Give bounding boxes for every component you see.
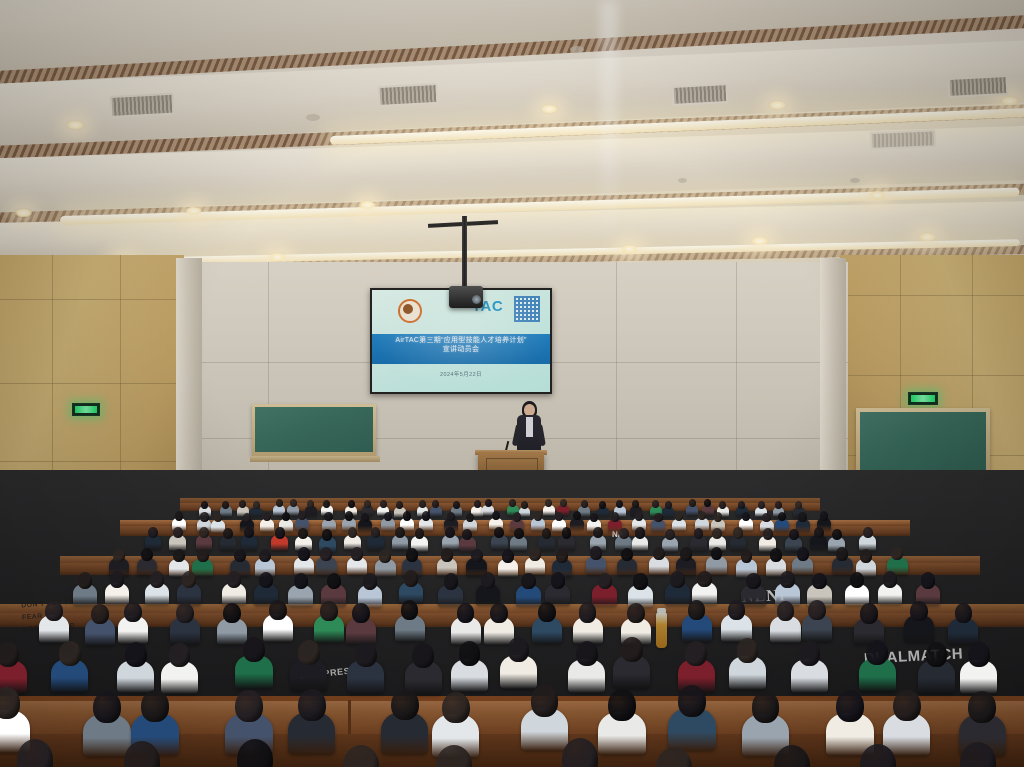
audience-member-head [635, 527, 645, 538]
audience-member-head [275, 527, 285, 538]
audience-member-head [529, 547, 541, 561]
smoke-detector [850, 178, 860, 183]
audience-member-head [379, 549, 391, 563]
audience-member-head [653, 547, 665, 561]
audience-member-head [508, 637, 530, 662]
airtac-logo-center [403, 304, 413, 314]
audience-member-head [351, 547, 363, 561]
audience-member-head [259, 549, 271, 563]
recessed-downlight [268, 252, 287, 262]
audience-member-head [474, 500, 481, 508]
recessed-downlight [918, 232, 937, 242]
air-conditioning-vent [870, 129, 937, 150]
audience-member-head [797, 547, 809, 561]
audience-member-head [223, 603, 241, 623]
audience-member-head [513, 512, 521, 521]
audience-member-head [780, 571, 794, 587]
audience-member-head [635, 511, 643, 520]
audience-member-head [199, 527, 209, 538]
audience-member-head [685, 641, 707, 666]
audience-member-head [777, 601, 795, 621]
audience-member-head [294, 573, 308, 589]
audience-member-head [471, 549, 483, 563]
audience-member-head [253, 501, 260, 509]
wall-panel-seam [840, 295, 1024, 296]
audience-member-head [445, 527, 455, 538]
audience-member-head [243, 637, 265, 662]
recessed-downlight [620, 244, 639, 254]
audience-member-head [812, 573, 826, 589]
foreground-desk-seam [348, 700, 351, 734]
audience-member-head [462, 529, 472, 540]
slide-date: 2024年5月22日 [372, 370, 550, 378]
recessed-downlight [66, 120, 85, 130]
audience-member-head [320, 547, 332, 561]
audience-member-head [893, 690, 921, 722]
audience-member-head [323, 500, 330, 508]
audience-member-head [555, 512, 563, 521]
audience-member-head [327, 573, 341, 589]
exit-sign-glow [75, 406, 97, 413]
audience-member-head [621, 548, 633, 562]
audience-member-head [678, 685, 706, 717]
audience-member-head [200, 512, 208, 521]
audience-member-head [746, 573, 760, 589]
recessed-downlight [1000, 96, 1019, 106]
audience-member-head [538, 602, 556, 622]
audience-member-head [320, 601, 338, 621]
audience-member-head [453, 501, 460, 509]
audience-member-head [244, 527, 254, 538]
audience-member-head [324, 512, 332, 521]
audience-member-head [457, 603, 475, 623]
audience-member-head [173, 549, 185, 563]
audience-member-head [298, 547, 310, 561]
audience-member-head [466, 513, 474, 522]
audience-member-head [590, 513, 598, 522]
audience-member-head [551, 572, 565, 588]
audience-member-head [850, 572, 864, 588]
audience-member-head [412, 643, 434, 668]
audience-member-head [542, 528, 552, 539]
audience-member-head [531, 685, 559, 717]
audience-member-head [860, 603, 878, 623]
audience-member-head [883, 571, 897, 587]
projector-mount-pole [462, 216, 467, 288]
audience-member-head [419, 500, 426, 508]
audience-member-head [222, 501, 229, 509]
audience-member-head [775, 501, 782, 509]
audience-member-head [290, 499, 297, 507]
recessed-downlight [358, 200, 377, 210]
recessed-downlight [14, 208, 33, 218]
audience-member-head [91, 604, 109, 624]
wall-panel-seam [0, 461, 184, 462]
audience-member-head [422, 511, 430, 520]
audience-member-head [148, 527, 158, 538]
audience-member-head [763, 528, 773, 539]
audience-member-head [921, 572, 935, 588]
audience-member-head [752, 691, 780, 723]
audience-member-head [380, 500, 387, 508]
exit-sign [72, 403, 100, 416]
audience-member-head [910, 601, 928, 621]
audience-member-head [798, 512, 806, 521]
audience-member-head [608, 689, 636, 721]
chalk-tray-left [250, 456, 380, 462]
recessed-downlight [540, 104, 559, 114]
presenter-shirt [526, 417, 533, 437]
audience-member-head [363, 573, 377, 589]
audience-member-head [619, 528, 629, 539]
audience-member-head [521, 573, 535, 589]
audience-member-head [404, 570, 418, 586]
audience-member-head [926, 642, 948, 667]
audience-member-head [227, 571, 241, 587]
audience-member-head [808, 600, 826, 620]
audience-member-head [348, 500, 355, 508]
audience-member-head [361, 513, 369, 522]
audience-member-head [534, 511, 542, 520]
audience-member-head [282, 512, 290, 521]
audience-member-head [593, 527, 603, 538]
air-conditioning-vent [109, 93, 174, 118]
audience-member-head [665, 501, 672, 509]
audience-member-head [45, 601, 63, 621]
audience-member-head [93, 691, 121, 723]
audience-member-head [175, 511, 183, 520]
exit-sign-glow [911, 395, 935, 402]
audience-member-head [298, 640, 320, 665]
audience-member-head [599, 501, 606, 509]
audience-member-head [269, 600, 287, 620]
audience-member-head [741, 549, 753, 563]
exit-sign [908, 392, 938, 405]
water-bottle [656, 612, 667, 648]
audience-member-head [150, 571, 164, 587]
audience-member-head [866, 640, 888, 665]
audience-member-head [502, 549, 514, 563]
audience-member-head [789, 529, 799, 540]
audience-member-head [223, 528, 233, 539]
audience-member-head [860, 549, 872, 563]
audience-member-head [719, 501, 726, 509]
audience-member-head [298, 689, 326, 721]
audience-member-head [688, 600, 706, 620]
audience-member-head [401, 600, 419, 620]
audience-member-head [243, 513, 251, 522]
audience-member-head [182, 571, 196, 587]
audience-member-head [298, 511, 306, 520]
audience-member-head [442, 692, 470, 724]
recessed-downlight [768, 100, 787, 110]
audience-member-head [197, 549, 209, 563]
audience-member-head [820, 511, 828, 520]
audience-member-head [665, 529, 675, 540]
recessed-downlight [184, 206, 203, 216]
recessed-downlight [868, 190, 887, 200]
audience-member-head [406, 548, 418, 562]
slide-title-line2: 宣讲动员会 [380, 345, 542, 354]
water-bottle-cap [657, 608, 666, 613]
audience-member-head [770, 548, 782, 562]
audience-member-head [78, 572, 92, 588]
audience-member-head [110, 571, 124, 587]
audience-member-head [444, 573, 458, 589]
audience-member-head [259, 572, 273, 588]
air-conditioning-vent [377, 83, 438, 107]
audience-member-head [795, 501, 802, 509]
qr-code-icon [514, 296, 540, 322]
audience-member-head [514, 528, 524, 539]
audience-member-head [733, 527, 743, 538]
audience-member-head [403, 511, 411, 520]
audience-member-head [968, 642, 990, 667]
audience-member-head [742, 512, 750, 521]
audience-member-head [968, 691, 996, 723]
audience-member-head [562, 527, 572, 538]
audience-member-head [556, 549, 568, 563]
audience-member-head [176, 603, 194, 623]
audience-member-head [545, 499, 552, 507]
audience-member-head [396, 501, 403, 509]
audience-member-head [201, 501, 208, 509]
audience-member-head [235, 690, 263, 722]
air-conditioning-vent [671, 83, 728, 106]
audience-member-head [611, 512, 619, 521]
audience-member-head [169, 643, 191, 668]
smoke-detector [306, 114, 320, 121]
audience-member-head [481, 572, 495, 588]
audience-member-head [0, 642, 19, 667]
audience-member-head [391, 689, 419, 721]
wall-panel-seam [840, 375, 1024, 376]
audience-member-head [728, 600, 746, 620]
audience-member-head [627, 603, 645, 623]
audience-member-head [670, 571, 684, 587]
audience-member-head [579, 602, 597, 622]
audience-member-head [573, 511, 581, 520]
audience-member-head [124, 602, 142, 622]
audience-member-head [654, 513, 662, 522]
audience-member-head [697, 571, 711, 587]
slide-title-line1: AirTAC第三期“应用型技能人才培养计划” [380, 336, 542, 345]
audience-member-head [762, 513, 770, 522]
audience-member-head [680, 547, 692, 561]
audience-member-head [521, 501, 528, 509]
audience-member-head [459, 641, 481, 666]
audience-member-head [345, 511, 353, 520]
audience-member-head [863, 527, 873, 538]
audience-member-head [59, 641, 81, 666]
wall-seam [616, 262, 617, 494]
audience-member-head [560, 499, 567, 507]
audience-member-head [490, 603, 508, 623]
wall-column-right [820, 258, 846, 498]
audience-member-head [173, 527, 183, 538]
audience-member-head [590, 546, 602, 560]
audience-member-head [738, 501, 745, 509]
audience-member-head [581, 500, 588, 508]
audience-member-head [711, 547, 723, 561]
audience-member-head [652, 500, 659, 508]
wall-column-left [176, 258, 202, 498]
audience-member-head [836, 690, 864, 722]
smoke-detector [570, 46, 584, 53]
audience-member-head [832, 529, 842, 540]
audience-member-head [355, 642, 377, 667]
audience-member-head [364, 500, 371, 508]
audience-member-head [758, 501, 765, 509]
audience-member-head [689, 499, 696, 507]
audience-member-head [836, 547, 848, 561]
audience-member-head [955, 603, 973, 623]
audience-member-head [415, 528, 425, 539]
audience-member-head [141, 690, 169, 722]
lecture-hall-photo: TAC AirTAC第三期“应用型技能人才培养计划” 宣讲动员会 2024年5月… [0, 0, 1024, 767]
audience-member-head [441, 548, 453, 562]
smoke-detector [678, 178, 687, 183]
lens-flare [600, 0, 618, 250]
audience-member-head [141, 548, 153, 562]
audience-member-head [234, 549, 246, 563]
audience-member-head [799, 641, 821, 666]
audience-member-head [276, 499, 283, 507]
audience-member-head [447, 512, 455, 521]
projector-lens-icon [472, 295, 481, 304]
audience-member-head [395, 527, 405, 538]
wall-seam [736, 262, 737, 494]
audience-member-head [598, 573, 612, 589]
audience-member-head [714, 512, 722, 521]
audience-member-head [633, 573, 647, 589]
slide-title: AirTAC第三期“应用型技能人才培养计划” 宣讲动员会 [380, 336, 542, 355]
audience-member-head [621, 637, 643, 662]
wall-panel-seam [0, 383, 184, 384]
audience-member-head [113, 549, 125, 563]
audience-member-head [125, 642, 147, 667]
audience-member-head [814, 527, 824, 538]
air-conditioning-vent [947, 75, 1008, 98]
audience-member-head [384, 512, 392, 521]
audience-member-head [737, 638, 759, 663]
audience-member-head [322, 529, 332, 540]
audience-member-head [576, 641, 598, 666]
recessed-downlight [750, 236, 769, 246]
wall-panel-seam [0, 299, 184, 300]
blackboard-left [255, 407, 373, 452]
audience-member-head [352, 603, 370, 623]
